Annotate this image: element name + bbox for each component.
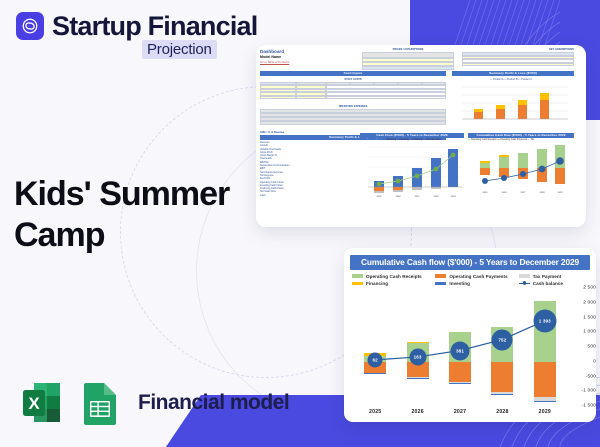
svg-text:2025: 2025	[483, 192, 489, 194]
brand-logo[interactable]: Startup Financial	[16, 12, 257, 40]
y-tick-label: 500	[588, 345, 596, 350]
dashboard-subtitle: Model Name	[260, 55, 320, 59]
band-cashflow: Cash Flow ($'000) - 5 Years to December …	[360, 133, 464, 138]
pricing-grid-label: STAFF COSTS	[260, 78, 446, 81]
volume-grid: OPERATING EXPENSES	[260, 105, 446, 125]
brand-badge: Projection	[142, 40, 217, 59]
volume-grid-label: OPERATING EXPENSES	[260, 105, 446, 108]
y-tick-label: 1 500	[583, 315, 596, 320]
financial-line-items: RevenueGrowthVariable OverheadsGross Pro…	[260, 141, 356, 197]
legend-item-financing: Financing	[352, 281, 433, 286]
x-tick-label: 2026	[396, 409, 438, 415]
y-tick-label: -1 500	[582, 404, 596, 409]
excel-glyph: X	[18, 379, 66, 427]
legend-label-investing: Investing	[449, 281, 470, 286]
x-tick-label: 2027	[439, 409, 481, 415]
svg-text:2028: 2028	[540, 192, 546, 194]
chart-marker-2027: 381	[451, 341, 470, 360]
y-tick-label: -1 000	[582, 389, 596, 394]
legend-item-payments: Operating Cash Payments	[435, 274, 516, 279]
dashboard-title: Dashboard	[260, 49, 320, 54]
mini-chart-profitability: — Product A — Product B — Product C	[452, 78, 570, 130]
y-tick-label: 2 500	[583, 286, 596, 291]
mini-bar-chart-3: 202520262027 20282029	[468, 141, 574, 199]
legend-item-receipts: Operating Cash Receipts	[352, 274, 433, 279]
mini-chart-cumulative: ▬ Operating Cash Receipts ▬ Operating Ca…	[468, 139, 574, 199]
brand-badge-wrap: Projection	[142, 40, 217, 59]
svg-text:2026: 2026	[502, 192, 508, 194]
dashboard-assumptions-b: KEY ASSUMPTIONS	[462, 48, 574, 66]
svg-text:2029: 2029	[558, 192, 564, 194]
chart-plot-area: 621633817521 393 2 5002 0001 5001 000500…	[354, 288, 566, 406]
chart-x-axis: 20252026202720282029	[354, 409, 566, 415]
svg-text:2025: 2025	[377, 196, 383, 198]
microsoft-excel-icon: X	[18, 379, 66, 427]
y-tick-label: 1 000	[583, 330, 596, 335]
legend-swatch-tax	[519, 274, 530, 277]
svg-text:X: X	[28, 394, 40, 413]
sheets-glyph	[80, 379, 120, 427]
chart-marker-2029: 1 393	[533, 309, 556, 332]
assumptions-a-label: PRICES / ASSUMPTIONS	[362, 48, 454, 51]
mini-bar-chart-1	[452, 81, 570, 127]
legend-label-tax: Tax Payment	[533, 274, 562, 279]
chart-title: Cumulative Cash flow ($'000) - 5 Years t…	[350, 255, 590, 270]
svg-text:2027: 2027	[521, 192, 527, 194]
chart-marker-2028: 752	[492, 329, 513, 350]
dashboard-toc-link[interactable]: Go to Table of Contents	[260, 60, 320, 64]
x-tick-label: 2025	[354, 409, 396, 415]
mini-chart-cashflow: — Operating — Investing — Financing — Ne…	[360, 139, 464, 199]
legend-item-tax: Tax Payment	[519, 274, 588, 279]
assumptions-b-label: KEY ASSUMPTIONS	[462, 48, 574, 51]
svg-text:2028: 2028	[434, 196, 440, 198]
legend-label-receipts: Operating Cash Receipts	[366, 274, 422, 279]
cumulative-cash-flow-card[interactable]: Cumulative Cash flow ($'000) - 5 Years t…	[344, 248, 596, 422]
dashboard-preview-card[interactable]: Dashboard Model Name Go to Table of Cont…	[256, 45, 586, 227]
svg-text:2027: 2027	[415, 196, 421, 198]
chart-y-axis: 2 5002 0001 5001 0005000-500-1 000-1 500	[568, 288, 596, 406]
y-tick-label: 0	[593, 359, 596, 364]
legend-swatch-financing	[352, 282, 363, 285]
chart-legend: Operating Cash Receipts Operating Cash P…	[352, 274, 588, 287]
spiral-glyph	[21, 17, 39, 35]
y-tick-label: 2 000	[583, 300, 596, 305]
x-tick-label: 2028	[481, 409, 523, 415]
brand-name: Startup Financial	[52, 13, 257, 40]
dashboard-heading: Dashboard Model Name Go to Table of Cont…	[260, 49, 320, 64]
svg-text:2026: 2026	[396, 196, 402, 198]
legend-swatch-investing	[435, 282, 446, 285]
legend-item-investing: Investing	[435, 281, 516, 286]
legend-label-payments: Operating Cash Payments	[449, 274, 507, 279]
poster-canvas: Startup Financial Projection Kids' Summe…	[0, 0, 600, 447]
page-title: Kids' Summer Camp	[14, 174, 264, 257]
svg-text:2029: 2029	[451, 196, 457, 198]
legend-item-balance: Cash balance	[519, 281, 588, 286]
google-sheets-icon	[80, 379, 124, 427]
legend-label-financing: Financing	[366, 281, 388, 286]
band-summary-pl: Summary Profit & Loss ($'000)	[452, 71, 574, 76]
chart-marker-2026: 163	[409, 348, 426, 365]
legend-swatch-balance	[519, 283, 530, 285]
format-footer: X Financial model	[18, 379, 289, 427]
legend-label-balance: Cash balance	[533, 281, 563, 286]
legend-swatch-payments	[435, 274, 446, 277]
core-financials-rows: RevenueGrowthVariable OverheadsGross Pro…	[260, 141, 356, 197]
x-tick-label: 2029	[524, 409, 566, 415]
y-tick-label: -500	[586, 374, 596, 379]
dashboard-assumptions-a: PRICES / ASSUMPTIONS	[362, 48, 454, 70]
chart-marker-2025: 62	[368, 352, 383, 367]
band-cash-inputs: Cash Inputs	[260, 71, 446, 76]
legend-swatch-receipts	[352, 274, 363, 277]
spiral-logo-icon	[16, 12, 44, 40]
format-label: Financial model	[138, 391, 289, 415]
dashboard-preview-body: Dashboard Model Name Go to Table of Cont…	[256, 45, 586, 227]
pricing-grid: STAFF COSTS	[260, 78, 446, 99]
mini-bar-chart-2: 202520262027 20282029	[360, 141, 464, 199]
band-cumulative: Cumulative Cash flow ($'000) - 5 Years t…	[468, 133, 574, 138]
